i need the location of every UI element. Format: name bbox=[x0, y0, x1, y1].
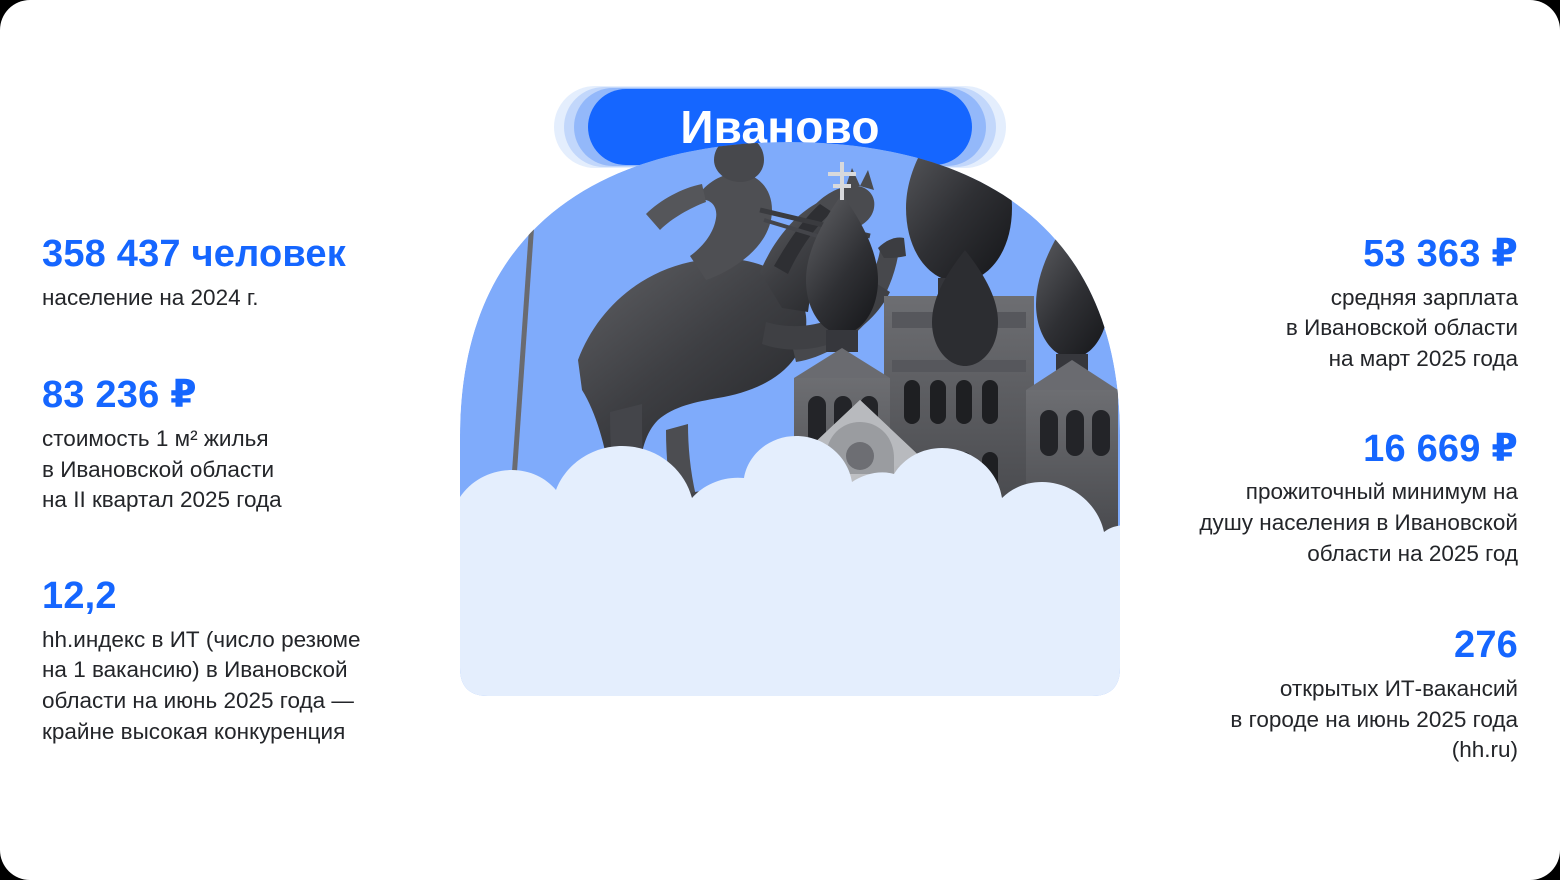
cross-icon bbox=[1058, 178, 1086, 218]
infographic-page: Иваново bbox=[0, 0, 1560, 880]
stat-housing-price-label: стоимость 1 м² жилья в Ивановской област… bbox=[42, 424, 462, 516]
stat-average-salary-label: средняя зарплата в Ивановской области на… bbox=[1098, 283, 1518, 375]
ivanovo-landmarks-illustration bbox=[460, 60, 1120, 696]
stat-population-value: 358 437 человек bbox=[42, 232, 462, 277]
stat-hh-index-label: hh.индекс в ИТ (число резюме на 1 ваканс… bbox=[42, 625, 462, 747]
stat-living-wage-value: 16 669 ₽ bbox=[1098, 427, 1518, 472]
stat-average-salary: 53 363 ₽ средняя зарплата в Ивановской о… bbox=[1098, 232, 1518, 375]
stat-hh-index: 12,2 hh.индекс в ИТ (число резюме на 1 в… bbox=[42, 574, 462, 747]
stat-housing-price-value: 83 236 ₽ bbox=[42, 373, 462, 418]
stat-it-vacancies-label: открытых ИТ-вакансий в городе на июнь 20… bbox=[1098, 674, 1518, 766]
stats-column-left: 358 437 человек население на 2024 г. 83 … bbox=[42, 232, 462, 747]
stat-hh-index-value: 12,2 bbox=[42, 574, 462, 619]
stat-living-wage: 16 669 ₽ прожиточный минимум на душу нас… bbox=[1098, 427, 1518, 570]
stat-it-vacancies: 276 открытых ИТ-вакансий в городе на июн… bbox=[1098, 623, 1518, 766]
stat-population: 358 437 человек население на 2024 г. bbox=[42, 232, 462, 313]
stat-population-label: население на 2024 г. bbox=[42, 283, 462, 314]
stat-housing-price: 83 236 ₽ стоимость 1 м² жилья в Ивановск… bbox=[42, 373, 462, 516]
stat-it-vacancies-value: 276 bbox=[1098, 623, 1518, 668]
stats-column-right: 53 363 ₽ средняя зарплата в Ивановской о… bbox=[1098, 232, 1518, 766]
cross-icon bbox=[941, 60, 977, 104]
stat-average-salary-value: 53 363 ₽ bbox=[1098, 232, 1518, 277]
stat-living-wage-label: прожиточный минимум на душу населения в … bbox=[1098, 477, 1518, 569]
